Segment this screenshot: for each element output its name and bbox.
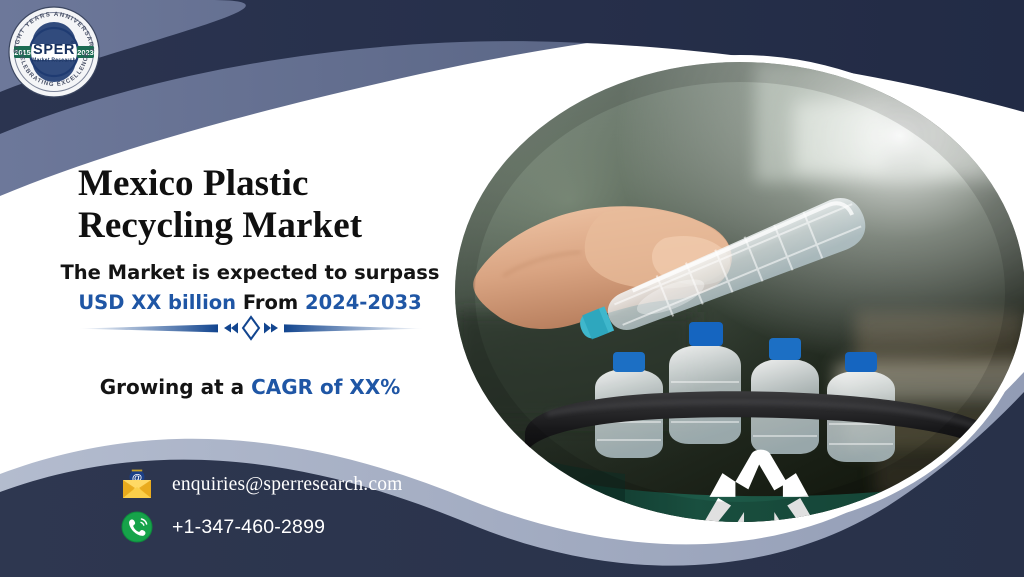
phone-handset-icon-svg: [120, 510, 154, 544]
contact-row-phone[interactable]: +1-347-460-2899: [120, 508, 520, 546]
divider-svg: [78, 312, 424, 344]
subtitle-part-2: From: [236, 291, 305, 314]
cagr-text: Growing at a CAGR of XX%: [40, 375, 460, 399]
marketing-banner: 2015 2023 EIGHT YEARS ANNIVERSARY CELEBR…: [0, 0, 1024, 577]
envelope-at-icon-svg: @: [120, 468, 154, 502]
title-line-2: Recycling Market: [78, 205, 362, 246]
subtitle-part-1: The Market is expected to surpass: [60, 261, 439, 284]
market-forecast-text: The Market is expected to surpass USD XX…: [40, 258, 460, 318]
contact-row-email[interactable]: @ enquiries@sperresearch.com: [120, 466, 520, 504]
cagr-highlight: CAGR of XX%: [251, 375, 400, 399]
cagr-prefix: Growing at a: [100, 375, 251, 399]
contact-block: @ enquiries@sperresearch.com: [120, 466, 520, 546]
subtitle-highlight-usd: USD: [78, 291, 124, 314]
email-address[interactable]: enquiries@sperresearch.com: [172, 474, 403, 496]
hero-photo-illustration: [455, 62, 1024, 522]
hero-photo: [455, 62, 1024, 522]
title-line-1: Mexico Plastic: [78, 163, 309, 204]
decorative-divider: [78, 312, 424, 344]
subtitle-highlight-value: XX billion: [131, 291, 236, 314]
subtitle-highlight-period: 2024-2033: [305, 291, 422, 314]
phone-number[interactable]: +1-347-460-2899: [172, 516, 325, 539]
content-column: Mexico Plastic Recycling Market The Mark…: [0, 0, 470, 577]
phone-handset-icon: [120, 510, 154, 544]
envelope-at-icon: @: [120, 468, 154, 502]
page-title: Mexico Plastic Recycling Market: [78, 163, 458, 247]
